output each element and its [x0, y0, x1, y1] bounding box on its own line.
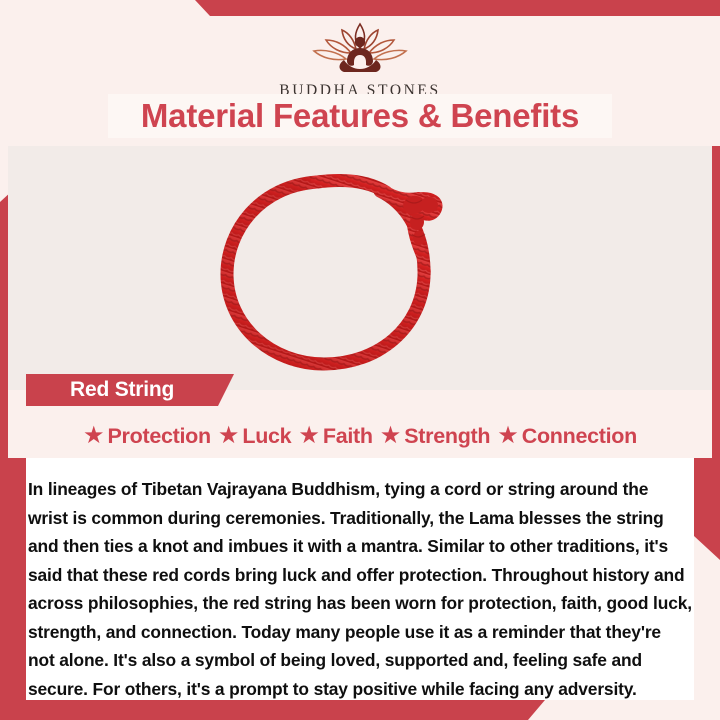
brand-logo: BUDDHA STONES [0, 20, 720, 100]
star-icon: ★ [380, 424, 402, 448]
lotus-meditation-icon [304, 20, 416, 78]
feature-label: Luck [242, 424, 291, 449]
feature-item-protection: ★ Protection [83, 424, 211, 449]
star-icon: ★ [497, 424, 519, 448]
feature-item-connection: ★ Connection [497, 424, 637, 449]
top-right-red-band [0, 0, 720, 16]
page-title: Material Features & Benefits [141, 97, 579, 135]
title-banner: Material Features & Benefits [108, 94, 612, 138]
feature-label: Connection [522, 424, 637, 449]
star-icon: ★ [298, 424, 320, 448]
infographic-page: BUDDHA STONES Material Features & Benefi… [0, 0, 720, 720]
feature-item-strength: ★ Strength [380, 424, 491, 449]
product-description: In lineages of Tibetan Vajrayana Buddhis… [28, 475, 692, 703]
feature-item-luck: ★ Luck [218, 424, 292, 449]
feature-list: ★ Protection ★ Luck ★ Faith ★ Strength ★… [26, 418, 694, 454]
product-name-banner: Red String [26, 374, 234, 406]
red-string-bracelet-illustration [200, 150, 520, 390]
feature-label: Strength [404, 424, 490, 449]
product-image [200, 150, 520, 390]
feature-item-faith: ★ Faith [298, 424, 372, 449]
feature-label: Protection [108, 424, 211, 449]
star-icon: ★ [218, 424, 240, 448]
star-icon: ★ [83, 424, 105, 448]
product-name: Red String [70, 378, 174, 402]
feature-label: Faith [323, 424, 373, 449]
